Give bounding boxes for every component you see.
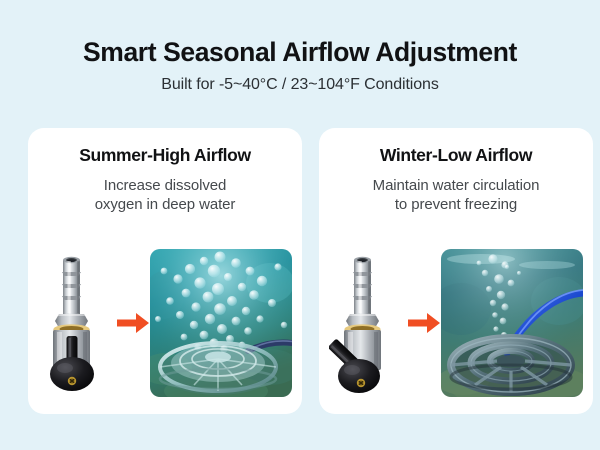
arrow-summer [116, 312, 150, 334]
card-winter-title: Winter-Low Airflow [380, 145, 532, 166]
ring-diffuser [451, 338, 571, 396]
valve-icon-winter [329, 248, 407, 398]
card-summer-description-line1: Increase dissolved [95, 176, 236, 195]
header: Smart Seasonal Airflow Adjustment Built … [0, 0, 600, 94]
underwater-low-airflow-photo [441, 249, 583, 397]
card-winter-media [329, 248, 583, 398]
disc-diffuser [160, 343, 276, 395]
ball-valve-throttled-graphic [329, 248, 407, 398]
card-winter-description: Maintain water circulation to prevent fr… [373, 176, 540, 214]
card-row: Summer-High Airflow Increase dissolved o… [28, 128, 572, 414]
poster-root: Smart Seasonal Airflow Adjustment Built … [0, 0, 600, 450]
card-summer-description-line2: oxygen in deep water [95, 195, 236, 214]
hose-barb [353, 257, 372, 314]
card-summer-description: Increase dissolved oxygen in deep water [95, 176, 236, 214]
right-arrow-icon [408, 312, 440, 334]
card-winter[interactable]: Winter-Low Airflow Maintain water circul… [319, 128, 593, 414]
arrow-winter [407, 312, 441, 334]
card-summer-title: Summer-High Airflow [79, 145, 251, 166]
page-title: Smart Seasonal Airflow Adjustment [0, 38, 600, 67]
valve-icon-summer [38, 248, 116, 398]
underwater-high-airflow-photo [150, 249, 292, 397]
photo-winter [441, 249, 583, 397]
right-arrow-icon [117, 312, 149, 334]
card-summer[interactable]: Summer-High Airflow Increase dissolved o… [28, 128, 302, 414]
hose-barb [62, 257, 81, 314]
card-summer-media [38, 248, 292, 398]
page-subtitle: Built for -5~40°C / 23~104°F Conditions [0, 76, 600, 94]
photo-summer [150, 249, 292, 397]
card-winter-description-line1: Maintain water circulation [373, 176, 540, 195]
valve-ball-throttled [338, 359, 380, 393]
ball-valve-open-graphic [38, 248, 116, 398]
card-winter-description-line2: to prevent freezing [373, 195, 540, 214]
